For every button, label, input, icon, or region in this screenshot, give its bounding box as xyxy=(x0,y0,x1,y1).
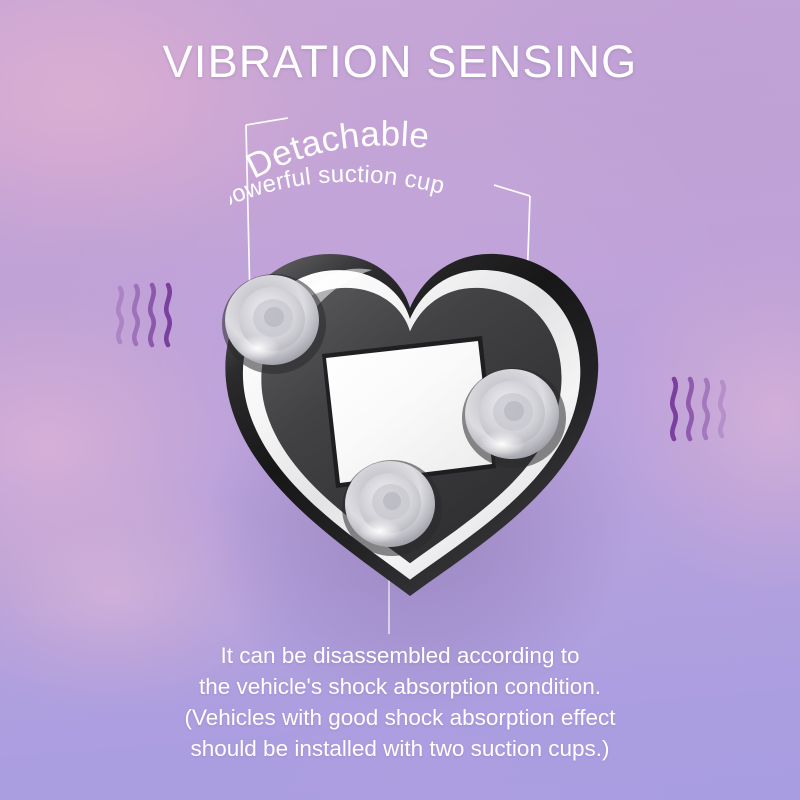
suction-cup-top-left xyxy=(222,274,326,374)
caption-line-4: should be installed with two suction cup… xyxy=(0,733,800,764)
caption-line-2: the vehicle's shock absorption condition… xyxy=(0,671,800,702)
suction-cup-bottom xyxy=(342,460,442,556)
caption-block: It can be disassembled according to the … xyxy=(0,640,800,764)
page-title: VIBRATION SENSING xyxy=(0,36,800,88)
product-image xyxy=(196,196,626,616)
caption-line-3: (Vehicles with good shock absorption eff… xyxy=(0,702,800,733)
suction-cup-right xyxy=(462,368,566,468)
vibration-waves-right-icon xyxy=(668,372,730,444)
caption-line-1: It can be disassembled according to xyxy=(0,640,800,671)
product-infographic: VIBRATION SENSING Detachable powerful su… xyxy=(0,0,800,800)
vibration-waves-left-icon xyxy=(112,278,174,350)
